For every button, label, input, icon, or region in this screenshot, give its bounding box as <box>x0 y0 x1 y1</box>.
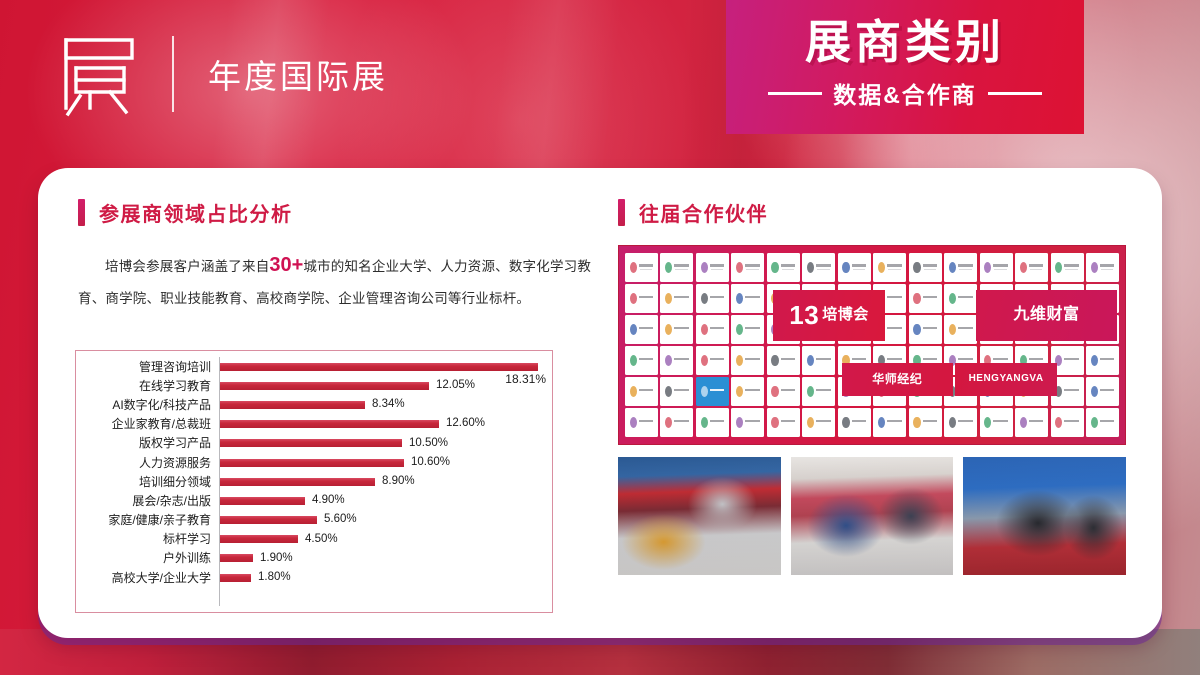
chart-bar-track: 10.50% <box>220 434 550 453</box>
partner-logo-tile <box>767 315 800 344</box>
event-photo-2 <box>791 457 954 575</box>
partner-logo-tile <box>1015 284 1048 313</box>
partner-logo-tile <box>909 377 942 406</box>
intro-text-before: 培博会参展客户涵盖了来自 <box>105 259 269 274</box>
partner-logo-tile <box>731 408 764 437</box>
partner-logo-tile <box>873 408 906 437</box>
partner-logo-tile <box>1086 408 1119 437</box>
partner-logo-tile <box>944 377 977 406</box>
chart-bar-row: 人力资源服务10.60% <box>76 453 552 472</box>
chart-bar-track: 10.60% <box>220 453 550 472</box>
banner-rule-right <box>988 92 1042 95</box>
partner-logo-tile <box>660 346 693 375</box>
banner-subtitle-row: 数据&合作商 <box>768 76 1042 110</box>
partner-logo-tile <box>980 253 1013 282</box>
partner-logo-tile <box>802 377 835 406</box>
chart-bar-label: 展会/杂志/出版 <box>76 495 211 507</box>
chart-bar-value: 1.90% <box>260 553 293 565</box>
chart-bar <box>220 382 429 390</box>
partner-logo-tile <box>660 253 693 282</box>
partner-logo-tile <box>625 346 658 375</box>
partner-logo-tile <box>696 284 729 313</box>
chart-bar <box>220 420 439 428</box>
partner-logo-tile <box>873 253 906 282</box>
partner-logo-tile <box>838 346 871 375</box>
chart-bar-track: 1.90% <box>220 549 550 568</box>
partner-logo-tile <box>980 346 1013 375</box>
chart-bar-row: 展会/杂志/出版4.90% <box>76 491 552 510</box>
chart-bar-track: 12.60% <box>220 415 550 434</box>
slide-root: 年度国际展 展商类别 数据&合作商 参展商领域占比分析 培博会参展客户涵盖了来自… <box>0 0 1200 675</box>
intro-paragraph: 培博会参展客户涵盖了来自30+城市的知名企业大学、人力资源、数字化学习教育、商学… <box>78 245 600 312</box>
partner-logo-tile <box>802 284 835 313</box>
partner-logo-tile <box>909 253 942 282</box>
partner-logo-tile <box>944 253 977 282</box>
partner-logo-tile <box>909 346 942 375</box>
chart-bar <box>220 439 402 447</box>
partner-logo-wall: 13培博会 九维财富 华师经纪 HENGYANGVA <box>618 245 1126 445</box>
partner-logo-tile <box>767 346 800 375</box>
chart-bar <box>220 516 317 524</box>
partner-logo-tile <box>1015 377 1048 406</box>
partner-logo-tile <box>767 253 800 282</box>
chart-bar-row: 管理咨询培训18.31% <box>76 357 552 376</box>
partner-logo-tile <box>625 253 658 282</box>
partner-logo-tile <box>838 253 871 282</box>
chart-bar-row: AI数字化/科技产品8.34% <box>76 395 552 414</box>
chart-bar-label: 版权学习产品 <box>76 437 211 449</box>
chart-bar <box>220 478 375 486</box>
partner-logo-tile <box>731 346 764 375</box>
partner-logo-tile <box>873 315 906 344</box>
left-section-title: 参展商领域占比分析 <box>99 198 293 227</box>
chart-bar-value: 8.90% <box>382 476 415 488</box>
partner-logo-tile <box>1086 377 1119 406</box>
chart-bar-value: 4.50% <box>305 534 338 546</box>
partner-logo-tile <box>944 284 977 313</box>
partner-logo-tile <box>731 315 764 344</box>
chart-bar-label: 人力资源服务 <box>76 457 211 469</box>
partner-logo-tile <box>1015 253 1048 282</box>
partner-logo-tile <box>696 253 729 282</box>
chart-bar-row: 版权学习产品10.50% <box>76 434 552 453</box>
chart-bar-value: 8.34% <box>372 399 405 411</box>
partner-logo-tile <box>944 408 977 437</box>
exhibition-logo-icon <box>56 28 142 120</box>
chart-bar-value: 10.60% <box>411 457 450 469</box>
partner-logo-tile <box>1051 284 1084 313</box>
chart-bar-value: 10.50% <box>409 438 448 450</box>
chart-bar-track: 1.80% <box>220 568 550 587</box>
left-section-header: 参展商领域占比分析 <box>78 198 600 227</box>
partner-logo-tile <box>1051 346 1084 375</box>
partner-logo-tile <box>696 315 729 344</box>
partner-logo-tile <box>731 377 764 406</box>
partner-logo-tile <box>767 377 800 406</box>
chart-plot-area: 管理咨询培训18.31%在线学习教育12.05%AI数字化/科技产品8.34%企… <box>76 351 552 612</box>
chart-bar-row: 在线学习教育12.05% <box>76 376 552 395</box>
partner-logo-tile <box>696 408 729 437</box>
partner-logo-tile <box>838 377 871 406</box>
partner-logo-tile <box>980 284 1013 313</box>
chart-bar-label: 培训细分领域 <box>76 476 211 488</box>
partner-logo-tile <box>944 315 977 344</box>
chart-bar <box>220 554 253 562</box>
brand-lockup: 年度国际展 <box>56 28 388 120</box>
partner-logo-tile <box>1086 253 1119 282</box>
chart-bar-track: 18.31% <box>220 357 550 376</box>
chart-bar-value: 1.80% <box>258 572 291 584</box>
partner-logo-tile <box>909 315 942 344</box>
chart-bar-label: 高校大学/企业大学 <box>76 572 211 584</box>
partner-logo-tile <box>767 284 800 313</box>
chart-bar-label: 企业家教育/总裁班 <box>76 418 211 430</box>
chart-bar <box>220 401 365 409</box>
chart-bar <box>220 574 251 582</box>
partner-logo-tile <box>980 377 1013 406</box>
right-section-title: 往届合作伙伴 <box>639 198 768 227</box>
chart-bar <box>220 459 404 467</box>
partner-logo-tile <box>873 346 906 375</box>
right-section-header: 往届合作伙伴 <box>618 198 1126 227</box>
chart-bar-track: 4.90% <box>220 491 550 510</box>
chart-bar-label: 标杆学习 <box>76 533 211 545</box>
chart-bar-value: 12.60% <box>446 418 485 430</box>
event-photo-3 <box>963 457 1126 575</box>
partner-logo-tile <box>802 408 835 437</box>
partner-logo-tile <box>660 377 693 406</box>
partner-logo-tile <box>802 346 835 375</box>
chart-bar <box>220 363 538 371</box>
header-banner: 展商类别 数据&合作商 <box>726 0 1084 134</box>
partner-logo-tile <box>980 408 1013 437</box>
event-photo-1 <box>618 457 781 575</box>
chart-bar-row: 高校大学/企业大学1.80% <box>76 568 552 587</box>
partner-logo-tile <box>1051 315 1084 344</box>
partner-logo-tile <box>802 253 835 282</box>
partner-logo-tile <box>1051 408 1084 437</box>
partner-logo-tile <box>838 315 871 344</box>
partner-logo-tile <box>731 253 764 282</box>
chart-bar-track: 4.50% <box>220 530 550 549</box>
chart-bar-value: 4.90% <box>312 495 345 507</box>
partner-logo-tile <box>838 408 871 437</box>
chart-bar-track: 8.34% <box>220 395 550 414</box>
partner-logo-tile <box>1015 346 1048 375</box>
partner-logo-tile <box>909 284 942 313</box>
category-share-bar-chart: 管理咨询培训18.31%在线学习教育12.05%AI数字化/科技产品8.34%企… <box>75 350 553 613</box>
partner-logo-tile <box>838 284 871 313</box>
partner-logo-tile <box>625 408 658 437</box>
chart-bar-value: 5.60% <box>324 514 357 526</box>
partner-logo-tile <box>660 284 693 313</box>
right-column: 往届合作伙伴 13培博会 九维财富 华师经纪 HENGYANGVA <box>618 198 1126 575</box>
banner-rule-left <box>768 92 822 95</box>
partner-logo-tile <box>660 315 693 344</box>
chart-bar-label: AI数字化/科技产品 <box>76 399 211 411</box>
event-photo-strip <box>618 457 1126 575</box>
partner-logo-tile <box>1051 253 1084 282</box>
partner-logo-tile <box>731 284 764 313</box>
chart-bar-track: 5.60% <box>220 511 550 530</box>
chart-bar-track: 8.90% <box>220 472 550 491</box>
chart-bar-label: 家庭/健康/亲子教育 <box>76 514 211 526</box>
partner-logo-tile <box>909 408 942 437</box>
left-column: 参展商领域占比分析 培博会参展客户涵盖了来自30+城市的知名企业大学、人力资源、… <box>78 198 600 312</box>
banner-title: 展商类别 <box>805 18 1005 67</box>
chart-bar-row: 企业家教育/总裁班12.60% <box>76 415 552 434</box>
partner-logo-tile <box>1086 315 1119 344</box>
partner-logo-tile <box>625 377 658 406</box>
brand-name: 年度国际展 <box>208 50 388 98</box>
partner-logo-tile <box>1015 408 1048 437</box>
partner-logo-tile <box>696 377 729 406</box>
chart-bar <box>220 497 305 505</box>
chart-bar-label: 户外训练 <box>76 552 211 564</box>
intro-highlight-number: 30+ <box>269 254 303 276</box>
chart-bar-label: 在线学习教育 <box>76 380 211 392</box>
banner-subtitle: 数据&合作商 <box>833 76 977 110</box>
partner-logo-tile <box>1015 315 1048 344</box>
partner-logo-grid <box>625 253 1119 437</box>
chart-bar-row: 家庭/健康/亲子教育5.60% <box>76 511 552 530</box>
partner-logo-tile <box>767 408 800 437</box>
partner-logo-tile <box>696 346 729 375</box>
partner-logo-tile <box>1086 346 1119 375</box>
partner-logo-tile <box>944 346 977 375</box>
chart-bar-row: 户外训练1.90% <box>76 549 552 568</box>
partner-logo-tile <box>625 315 658 344</box>
partner-logo-tile <box>1086 284 1119 313</box>
chart-bar-track: 12.05% <box>220 376 550 395</box>
partner-logo-tile <box>873 377 906 406</box>
partner-logo-tile <box>873 284 906 313</box>
partner-logo-tile <box>660 408 693 437</box>
section-accent-bar <box>78 199 85 226</box>
chart-bar <box>220 535 298 543</box>
brand-divider <box>172 36 174 112</box>
chart-bar-label: 管理咨询培训 <box>76 361 211 373</box>
chart-bar-value: 12.05% <box>436 380 475 392</box>
chart-bar-row: 标杆学习4.50% <box>76 530 552 549</box>
partner-logo-tile <box>802 315 835 344</box>
section-accent-bar <box>618 199 625 226</box>
chart-bar-row: 培训细分领域8.90% <box>76 472 552 491</box>
partner-logo-tile <box>625 284 658 313</box>
partner-logo-tile <box>980 315 1013 344</box>
partner-logo-tile <box>1051 377 1084 406</box>
